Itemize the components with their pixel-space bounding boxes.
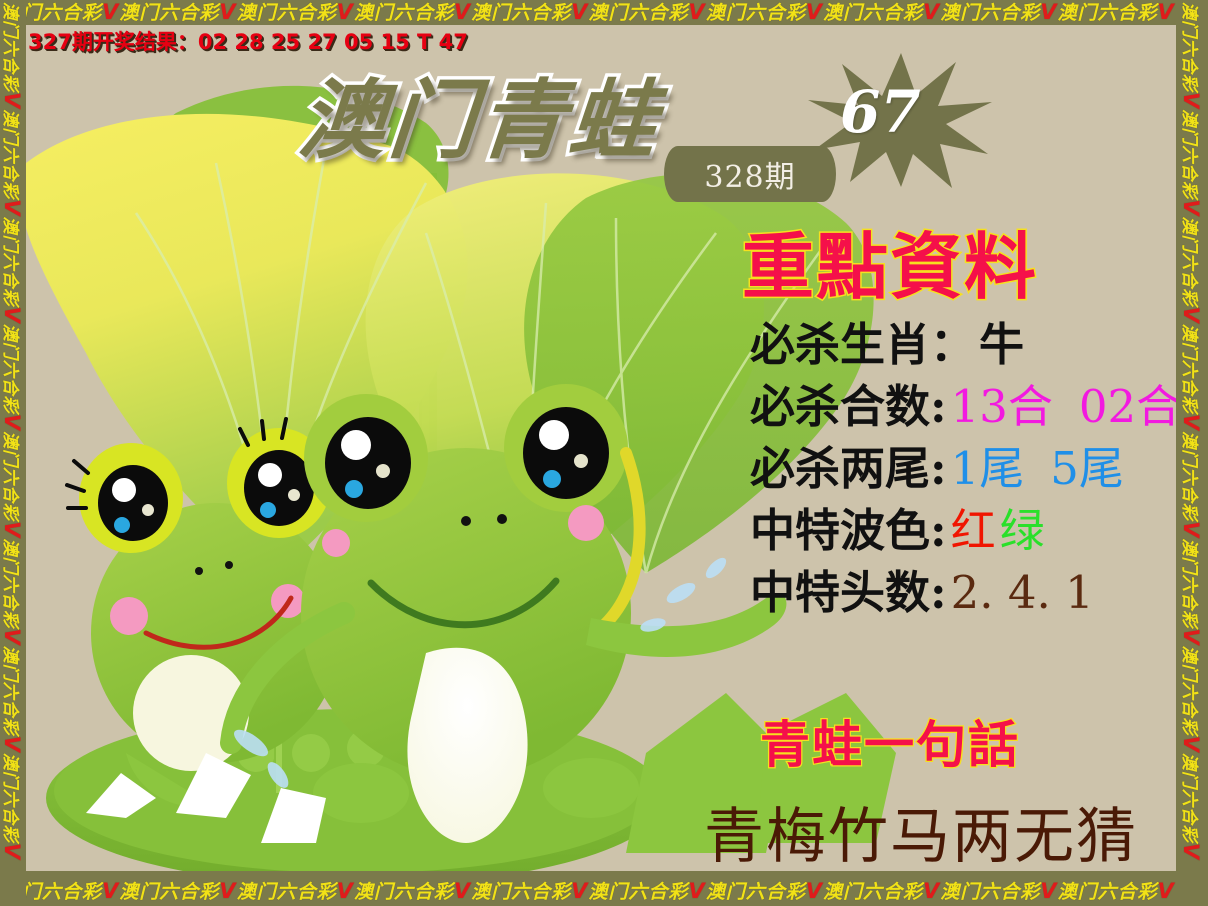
- badge-number: 67: [840, 78, 921, 146]
- issue-banner-label: 328期: [664, 146, 836, 202]
- row-bose: 中特波色: 红 绿: [750, 494, 1208, 556]
- border-bottom-text: 澳门六合彩V澳门六合彩V澳门六合彩V澳门六合彩V澳门六合彩V澳门六合彩V澳门六合…: [2, 877, 1175, 906]
- phrase-body: 青梅竹马两无猜: [704, 788, 1138, 875]
- row-toushu-label: 中特头数:: [750, 556, 947, 621]
- border-right-text: 澳门六合彩V澳门六合彩V澳门六合彩V澳门六合彩V澳门六合彩V澳门六合彩V澳门六合…: [1176, 2, 1204, 860]
- page-title: 澳门青蛙: [295, 50, 666, 175]
- row-bose-value-a: 红: [951, 494, 996, 559]
- border-right: 澳门六合彩V澳门六合彩V澳门六合彩V澳门六合彩V澳门六合彩V澳门六合彩V澳门六合…: [1176, 0, 1208, 906]
- result-bar: 327期开奖结果：02 28 25 27 05 15 T 47: [0, 25, 1208, 53]
- row-liangwei-value-b: 5尾: [1050, 432, 1124, 497]
- poster-root: 澳门青蛙 67 328期 重點資料 必杀生肖： 牛 必杀合数: 13合 02合 …: [0, 0, 1208, 906]
- row-bose-value-b: 绿: [1000, 494, 1045, 559]
- row-shengxiao-label: 必杀生肖：: [750, 308, 975, 373]
- border-top-text: 澳门六合彩V澳门六合彩V澳门六合彩V澳门六合彩V澳门六合彩V澳门六合彩V澳门六合…: [2, 0, 1175, 25]
- issue-banner: 328期: [664, 146, 836, 202]
- border-left: 澳门六合彩V澳门六合彩V澳门六合彩V澳门六合彩V澳门六合彩V澳门六合彩V澳门六合…: [0, 0, 26, 906]
- row-heshu: 必杀合数: 13合 02合: [750, 370, 1208, 432]
- row-liangwei-label: 必杀两尾:: [750, 432, 947, 497]
- row-toushu-value: 2. 4. 1: [951, 566, 1094, 619]
- row-heshu-value-a: 13合: [951, 370, 1053, 435]
- border-top: 澳门六合彩V澳门六合彩V澳门六合彩V澳门六合彩V澳门六合彩V澳门六合彩V澳门六合…: [0, 0, 1208, 25]
- info-rows: 必杀生肖： 牛 必杀合数: 13合 02合 必杀两尾: 1尾 5尾 中特波色: …: [750, 308, 1208, 618]
- row-shengxiao: 必杀生肖： 牛: [750, 308, 1208, 370]
- phrase-heading: 青蛙一句話: [760, 705, 1020, 777]
- row-heshu-value-b: 02合: [1079, 370, 1181, 435]
- border-left-text: 澳门六合彩V澳门六合彩V澳门六合彩V澳门六合彩V澳门六合彩V澳门六合彩V澳门六合…: [0, 2, 23, 860]
- row-toushu: 中特头数: 2. 4. 1: [750, 556, 1208, 618]
- row-bose-label: 中特波色:: [750, 494, 947, 559]
- panel-heading: 重點資料: [742, 208, 1038, 313]
- border-bottom: 澳门六合彩V澳门六合彩V澳门六合彩V澳门六合彩V澳门六合彩V澳门六合彩V澳门六合…: [0, 871, 1208, 906]
- row-shengxiao-value: 牛: [979, 308, 1024, 373]
- row-liangwei: 必杀两尾: 1尾 5尾: [750, 432, 1208, 494]
- result-text: 327期开奖结果：02 28 25 27 05 15 T 47: [28, 26, 468, 56]
- row-liangwei-value-a: 1尾: [951, 432, 1025, 497]
- info-panel: 重點資料 必杀生肖： 牛 必杀合数: 13合 02合 必杀两尾: 1尾 5尾 中…: [700, 200, 1200, 906]
- row-heshu-label: 必杀合数:: [750, 370, 947, 435]
